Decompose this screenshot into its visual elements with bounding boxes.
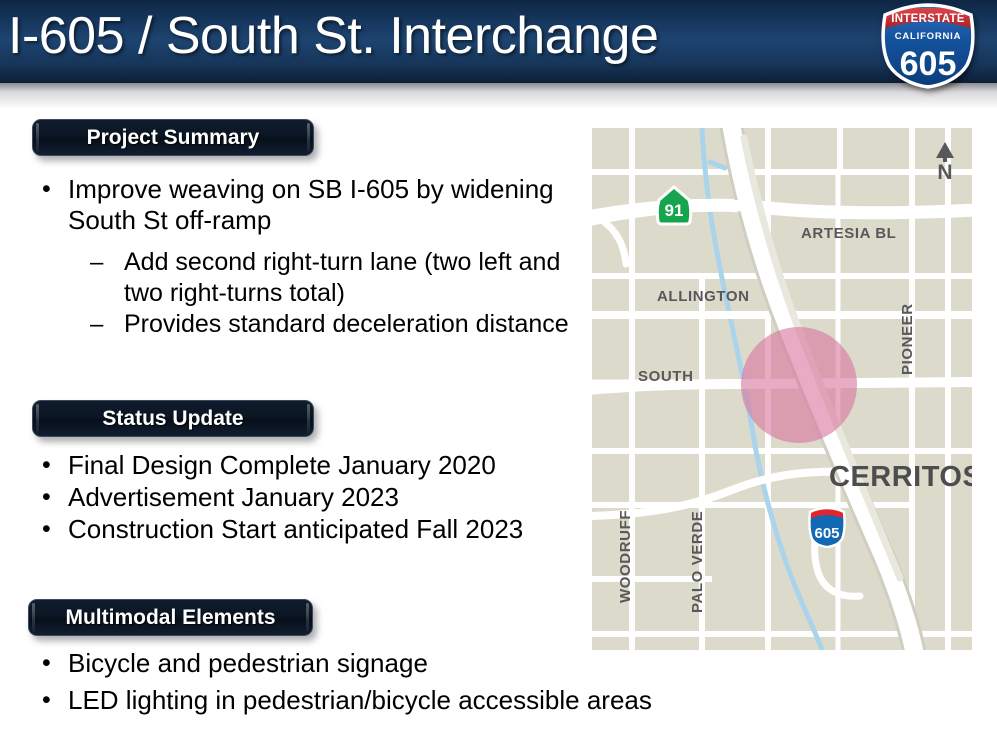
project-summary-subbullets: – Add second right-turn lane (two left a… xyxy=(86,247,586,340)
bullet-marker: • xyxy=(32,482,68,513)
route-number: 91 xyxy=(665,201,684,220)
bullet-marker: • xyxy=(32,685,68,716)
bullet-text: Bicycle and pedestrian signage xyxy=(68,648,732,679)
page-title: I-605 / South St. Interchange xyxy=(8,6,658,66)
bullet-text: Improve weaving on SB I-605 by widening … xyxy=(68,174,580,236)
map-graphic xyxy=(592,128,972,650)
badge-label: Project Summary xyxy=(87,126,260,150)
bullet-marker: • xyxy=(32,174,68,205)
multimodal-bullets: • Bicycle and pedestrian signage • LED l… xyxy=(32,648,732,722)
badge-label: Multimodal Elements xyxy=(65,606,275,630)
bullet-text: Final Design Complete January 2020 xyxy=(68,450,592,481)
map-label-allington: ALLINGTON xyxy=(657,288,750,305)
list-item: • Final Design Complete January 2020 xyxy=(32,450,592,481)
interchange-highlight xyxy=(741,327,857,443)
header-shadow xyxy=(0,83,997,109)
list-item: • Advertisement January 2023 xyxy=(32,482,592,513)
bullet-marker: – xyxy=(86,309,124,340)
map-label-artesia: ARTESIA BL xyxy=(801,225,896,242)
bullet-text: LED lighting in pedestrian/bicycle acces… xyxy=(68,685,732,716)
compass-arrow xyxy=(936,142,954,158)
map-label-south: SOUTH xyxy=(638,368,694,385)
project-summary-bullets: • Improve weaving on SB I-605 by widenin… xyxy=(32,174,580,236)
header-banner: I-605 / South St. Interchange xyxy=(0,0,997,83)
bullet-text: Construction Start anticipated Fall 2023 xyxy=(68,514,592,545)
section-badge-project-summary: Project Summary xyxy=(32,119,314,156)
bullet-marker: • xyxy=(32,450,68,481)
compass-north-icon: N xyxy=(932,142,958,184)
status-update-bullets: • Final Design Complete January 2020 • A… xyxy=(32,450,592,546)
shield-top-band: INTERSTATE xyxy=(891,13,965,25)
bullet-marker: • xyxy=(32,514,68,545)
bullet-marker: • xyxy=(32,648,68,679)
list-item: • LED lighting in pedestrian/bicycle acc… xyxy=(32,685,732,716)
section-badge-multimodal-elements: Multimodal Elements xyxy=(28,599,313,636)
bullet-text: Advertisement January 2023 xyxy=(68,482,592,513)
map-label-cerritos: CERRITOS xyxy=(829,461,972,494)
map-label-palo-verde: PALO VERDE xyxy=(689,511,706,613)
bullet-text: Provides standard deceleration distance xyxy=(124,309,586,340)
list-item: – Provides standard deceleration distanc… xyxy=(86,309,586,340)
map-label-woodruff: WOODRUFF xyxy=(617,510,634,603)
ca-route-shield-icon-91: 91 xyxy=(654,185,694,227)
interstate-shield-icon: INTERSTATE CALIFORNIA 605 xyxy=(875,3,981,89)
interstate-shield-icon-605: 605 xyxy=(807,506,847,548)
location-map: ARTESIA BL ALLINGTON SOUTH CERRITOS PION… xyxy=(592,128,972,650)
list-item: • Improve weaving on SB I-605 by widenin… xyxy=(32,174,580,236)
map-label-pioneer: PIONEER xyxy=(899,303,916,375)
bullet-marker: – xyxy=(86,247,124,278)
list-item: • Construction Start anticipated Fall 20… xyxy=(32,514,592,545)
bullet-text: Add second right-turn lane (two left and… xyxy=(124,247,586,309)
compass-label: N xyxy=(932,162,958,184)
list-item: – Add second right-turn lane (two left a… xyxy=(86,247,586,309)
list-item: • Bicycle and pedestrian signage xyxy=(32,648,732,679)
section-badge-status-update: Status Update xyxy=(32,400,314,437)
shield-state-label: CALIFORNIA xyxy=(895,31,962,42)
shield-route-number: 605 xyxy=(900,45,957,83)
route-number: 605 xyxy=(814,525,839,542)
badge-label: Status Update xyxy=(102,407,243,431)
